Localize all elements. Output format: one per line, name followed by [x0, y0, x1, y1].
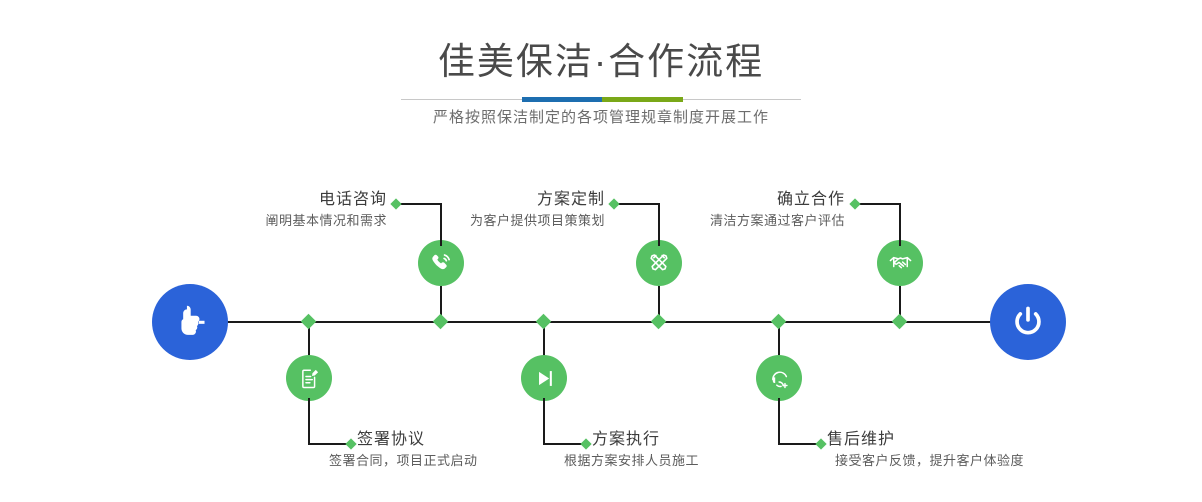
step-desc: 清洁方案通过客户评估: [610, 211, 845, 231]
document-edit-icon: [297, 366, 322, 391]
step-title: 确立合作: [610, 189, 845, 211]
axis-marker-2: [651, 314, 667, 330]
step-after-sales-node[interactable]: [756, 355, 802, 401]
axis-marker-1: [433, 314, 449, 330]
connector-horz-upper-3: [857, 203, 901, 205]
step-desc: 阐明基本情况和需求: [155, 211, 387, 231]
step-desc: 接受客户反馈，提升客户体验度: [835, 451, 1117, 471]
step-plan-execution-node[interactable]: [521, 355, 567, 401]
pointing-hand-icon: [169, 301, 211, 343]
connector-horz-lower-1: [308, 443, 350, 445]
flow-end-node[interactable]: [990, 284, 1066, 360]
cooperation-flow-infographic: 佳美保洁·合作流程 严格按照保洁制定的各项管理规章制度开展工作: [0, 0, 1202, 502]
step-establish-cooperation-node[interactable]: [877, 240, 923, 286]
pencil-design-icon: [646, 250, 672, 276]
connector-horz-lower-3: [778, 443, 820, 445]
axis-marker-4: [301, 314, 317, 330]
phone-call-icon: [428, 250, 454, 276]
step-sign-agreement-node[interactable]: [286, 355, 332, 401]
step-desc: 根据方案安排人员施工: [564, 451, 842, 471]
step-title: 方案定制: [373, 189, 605, 211]
divider-accent-green: [602, 97, 683, 102]
play-skip-icon: [532, 366, 557, 391]
axis-marker-6: [771, 314, 787, 330]
divider-accent-blue: [522, 97, 602, 102]
title-divider: [401, 97, 801, 102]
step-phone-consult-label: 电话咨询 阐明基本情况和需求: [155, 189, 387, 231]
step-phone-consult-node[interactable]: [418, 240, 464, 286]
step-after-sales-label: 售后维护 接受客户反馈，提升客户体验度: [827, 429, 1117, 471]
connector-vert-lower-2b: [543, 398, 545, 444]
handshake-icon: [887, 250, 914, 277]
headset-add-icon: [767, 366, 792, 391]
step-desc: 为客户提供项目策策划: [373, 211, 605, 231]
connector-vert-lower-3b: [778, 398, 780, 444]
step-establish-cooperation-label: 确立合作 清洁方案通过客户评估: [610, 189, 845, 231]
step-plan-custom-node[interactable]: [636, 240, 682, 286]
step-plan-execution-label: 方案执行 根据方案安排人员施工: [592, 429, 842, 471]
label-marker-upper-3: [849, 198, 860, 209]
step-title: 签署协议: [357, 429, 607, 451]
page-subtitle: 严格按照保洁制定的各项管理规章制度开展工作: [0, 107, 1202, 129]
axis-marker-5: [536, 314, 552, 330]
flow-start-node[interactable]: [152, 284, 228, 360]
power-icon: [1007, 301, 1049, 343]
step-title: 售后维护: [827, 429, 1117, 451]
connector-vert-lower-1b: [308, 398, 310, 444]
step-title: 电话咨询: [155, 189, 387, 211]
page-title: 佳美保洁·合作流程: [0, 40, 1202, 84]
connector-vert-upper-3b: [899, 204, 901, 246]
step-title: 方案执行: [592, 429, 842, 451]
axis-marker-3: [892, 314, 908, 330]
step-plan-custom-label: 方案定制 为客户提供项目策策划: [373, 189, 605, 231]
label-marker-lower-1: [345, 438, 356, 449]
connector-horz-lower-2: [543, 443, 585, 445]
